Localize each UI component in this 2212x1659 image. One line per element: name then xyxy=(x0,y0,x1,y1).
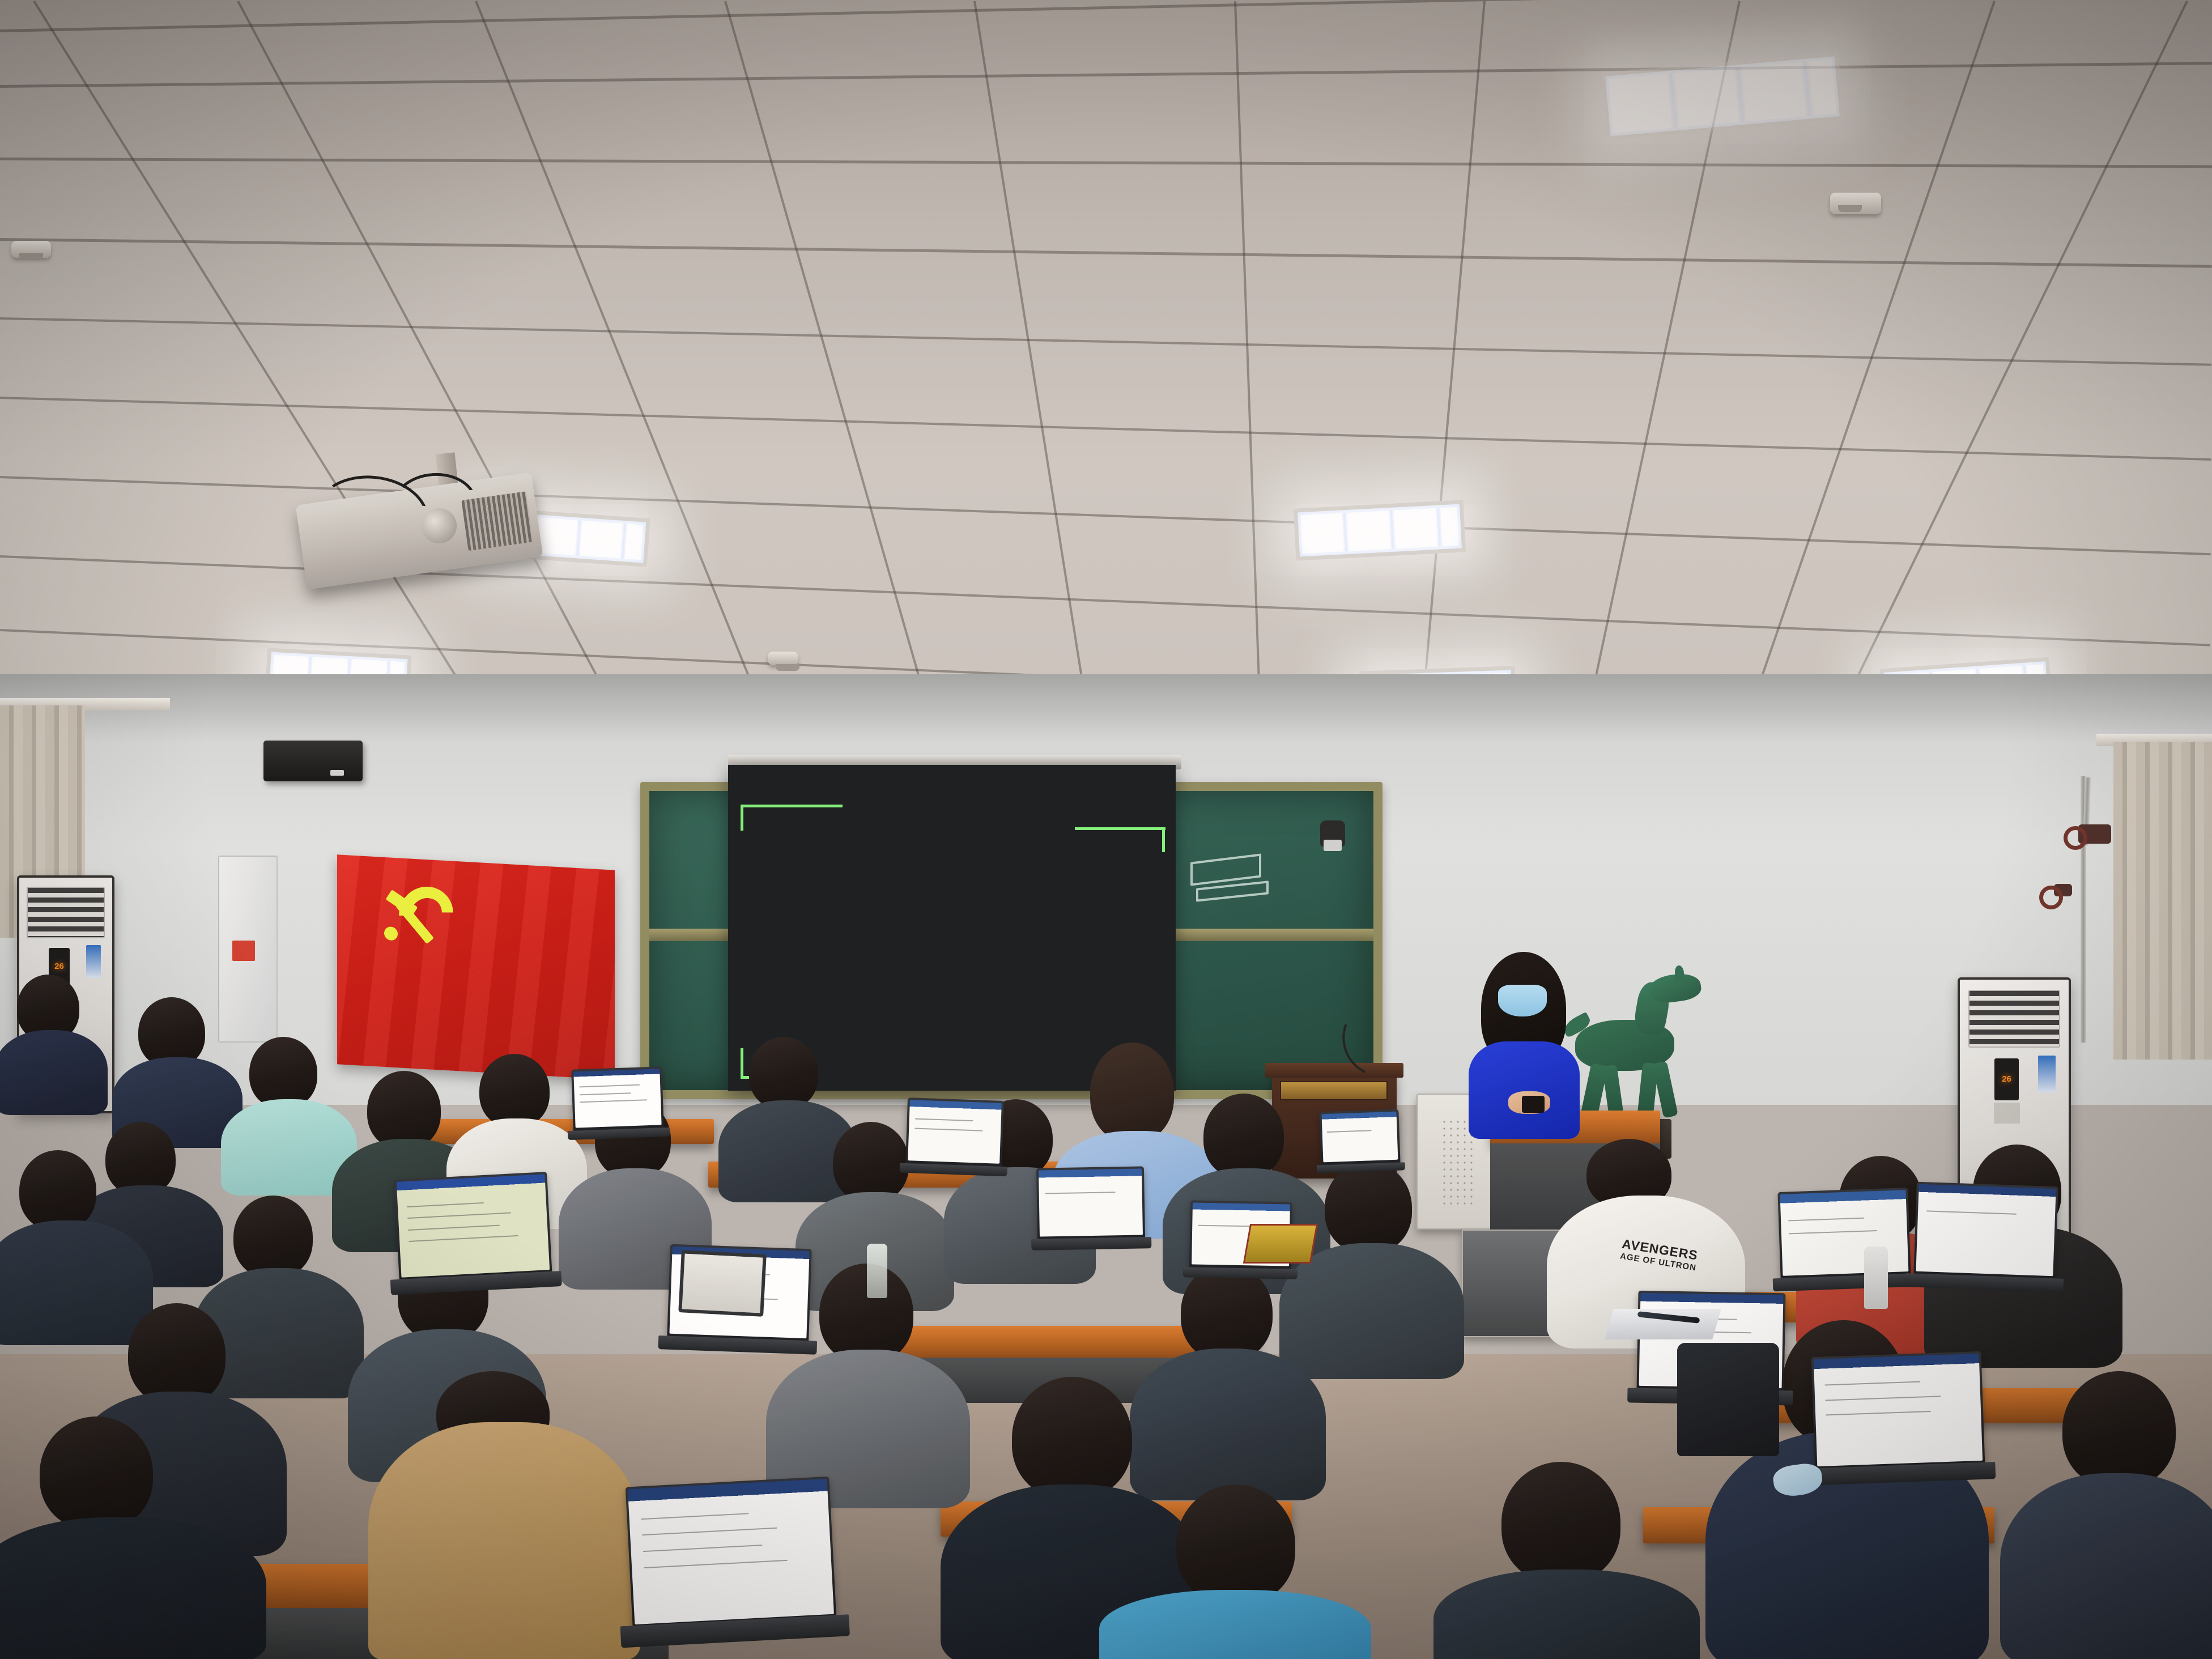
laptop[interactable] xyxy=(1811,1351,1985,1470)
wall-camera-icon xyxy=(1320,820,1345,846)
laptop[interactable] xyxy=(905,1098,1004,1168)
textbook xyxy=(1243,1224,1318,1264)
wall-shadow xyxy=(0,674,2212,742)
ac-vent-icon xyxy=(27,887,105,938)
water-bottle xyxy=(867,1244,887,1298)
ceiling-light-panel xyxy=(1294,500,1466,561)
pipe-valve xyxy=(2078,824,2111,844)
chalk-mark xyxy=(1190,853,1261,886)
student xyxy=(227,1037,346,1184)
student xyxy=(1450,1462,1677,1659)
laptop[interactable] xyxy=(394,1172,552,1282)
laptop[interactable] xyxy=(571,1066,664,1132)
student xyxy=(0,1416,238,1659)
party-flag xyxy=(337,854,615,1079)
pipe-valve xyxy=(2054,884,2072,896)
smoke-detector-icon xyxy=(1830,193,1881,214)
ac-temperature-value: 26 xyxy=(2002,1074,2011,1084)
tablet[interactable] xyxy=(678,1250,767,1317)
ceiling xyxy=(0,0,2212,748)
wall-speaker-icon xyxy=(263,741,363,781)
presentation-remote[interactable] xyxy=(1522,1096,1545,1113)
ac-display: 26 xyxy=(1994,1058,2018,1100)
hammer-and-sickle-icon xyxy=(385,883,456,955)
student xyxy=(0,975,102,1111)
window-curtain-right xyxy=(2113,742,2212,1060)
smoke-detector-icon xyxy=(11,241,51,258)
ceiling-tile-grid xyxy=(0,0,2212,748)
ac-temperature-value: 26 xyxy=(54,962,64,971)
backpack xyxy=(1677,1343,1779,1456)
laptop[interactable] xyxy=(626,1477,837,1628)
presenter-shirt xyxy=(1469,1041,1580,1139)
student xyxy=(368,1411,640,1659)
student xyxy=(1122,1484,1349,1659)
laptop[interactable] xyxy=(1319,1109,1400,1167)
classroom-photo: 北 北京大学 PEKING UNIVERSITY COLLEGE OF ENGI… xyxy=(0,0,2212,1659)
laptop[interactable] xyxy=(1777,1188,1911,1280)
student xyxy=(2017,1371,2212,1659)
laptop[interactable] xyxy=(1036,1166,1145,1240)
student xyxy=(1292,1162,1445,1371)
ac-vent-icon xyxy=(1968,990,2060,1048)
smoke-detector-icon xyxy=(768,652,798,665)
presenter xyxy=(1439,958,1603,1139)
water-bottle xyxy=(1864,1247,1888,1309)
ac-keypad[interactable] xyxy=(1994,1103,2020,1124)
ac-sticker xyxy=(2038,1056,2056,1092)
ac-sticker xyxy=(86,945,101,978)
water-dispenser-label xyxy=(232,941,255,961)
student xyxy=(119,997,232,1139)
face-mask-icon xyxy=(1498,985,1547,1016)
laptop[interactable] xyxy=(1913,1182,2058,1281)
